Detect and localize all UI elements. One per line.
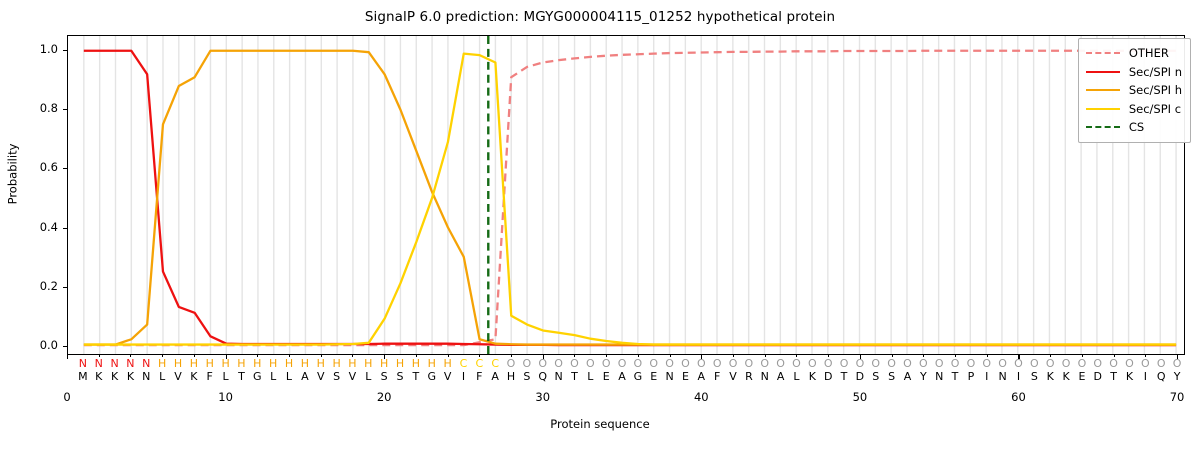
sequence-residue-label: S [381, 369, 388, 384]
sequence-residue-label: F [207, 369, 213, 384]
sequence-residue-label: V [349, 369, 357, 384]
legend-item-sec-spi-c[interactable]: Sec/SPI c [1086, 100, 1182, 119]
sequence-residue-label: S [872, 369, 879, 384]
sequence-residue-label: T [571, 369, 578, 384]
legend-label: Sec/SPI n [1129, 65, 1182, 79]
y-tick-mark [63, 50, 67, 51]
sequence-residue-label: T [238, 369, 245, 384]
sequence-residue-label: A [491, 369, 499, 384]
series-line-sec-spi-n [84, 51, 1176, 345]
sequence-residue-label: L [793, 369, 799, 384]
series-canvas [68, 36, 1184, 354]
sequence-residue-label: K [1047, 369, 1054, 384]
sequence-residue-label: F [714, 369, 720, 384]
legend-item-sec-spi-h[interactable]: Sec/SPI h [1086, 81, 1182, 100]
sequence-residue-label: A [618, 369, 626, 384]
y-tick-mark [63, 109, 67, 110]
sequence-residue-label: L [286, 369, 292, 384]
sequence-residue-label: N [999, 369, 1007, 384]
series-line-sec-spi-c [84, 54, 1176, 345]
sequence-residue-label: T [841, 369, 848, 384]
legend-item-other[interactable]: OTHER [1086, 44, 1182, 63]
sequence-residue-label: I [985, 369, 988, 384]
sequence-residue-label: D [824, 369, 832, 384]
sequence-residue-label: P [968, 369, 975, 384]
sequence-residue-label: N [665, 369, 673, 384]
sequence-residue-label: A [698, 369, 706, 384]
sequence-residue-label: F [476, 369, 482, 384]
sequence-residue-label: A [904, 369, 912, 384]
sequence-residue-label: D [1094, 369, 1102, 384]
sequence-residue-label: L [223, 369, 229, 384]
x-tick-label: 60 [1011, 390, 1026, 404]
y-tick-mark [63, 287, 67, 288]
sequence-residue-label: K [1126, 369, 1133, 384]
sequence-residue-label: V [444, 369, 452, 384]
sequence-residue-label: I [1144, 369, 1147, 384]
sequence-residue-label: K [127, 369, 134, 384]
sequence-residue-label: S [888, 369, 895, 384]
legend-label: OTHER [1129, 46, 1169, 60]
sequence-residue-label: E [603, 369, 610, 384]
legend-swatch-icon [1086, 103, 1120, 115]
sequence-residue-label: G [634, 369, 643, 384]
sequence-residue-label: L [270, 369, 276, 384]
sequence-residue-label: T [413, 369, 420, 384]
legend-item-sec-spi-n[interactable]: Sec/SPI n [1086, 63, 1182, 82]
legend-swatch-icon [1086, 84, 1120, 96]
sequence-residue-label: E [1078, 369, 1085, 384]
signalp-prediction-figure: SignalP 6.0 prediction: MGYG000004115_01… [0, 0, 1200, 450]
y-tick-label: 0.0 [27, 338, 58, 352]
sequence-residue-label: D [856, 369, 864, 384]
sequence-residue-label: I [1017, 369, 1020, 384]
sequence-residue-label: S [397, 369, 404, 384]
x-tick-label: 10 [218, 390, 233, 404]
sequence-residue-label: V [729, 369, 737, 384]
legend-label: Sec/SPI h [1129, 83, 1182, 97]
sequence-residue-label: N [761, 369, 769, 384]
sequence-residue-label: A [301, 369, 309, 384]
y-tick-label: 1.0 [27, 42, 58, 56]
sequence-residue-label: K [809, 369, 816, 384]
sequence-residue-label: K [1062, 369, 1069, 384]
y-tick-mark [63, 346, 67, 347]
x-tick-label: 30 [535, 390, 550, 404]
y-axis-label: Probability [5, 144, 19, 205]
y-tick-mark [63, 168, 67, 169]
sequence-residue-label: K [190, 369, 197, 384]
y-tick-mark [63, 228, 67, 229]
sequence-residue-label: H [507, 369, 515, 384]
sequence-residue-label: I [462, 369, 465, 384]
sequence-residue-label: Y [920, 369, 927, 384]
sequence-residue-label: G [253, 369, 262, 384]
plot-area [67, 35, 1185, 355]
series-line-other [84, 51, 1176, 345]
sequence-residue-label: Q [1157, 369, 1166, 384]
sequence-residue-label: E [650, 369, 657, 384]
chart-title: SignalP 6.0 prediction: MGYG000004115_01… [0, 9, 1200, 25]
sequence-residue-label: M [78, 369, 88, 384]
sequence-residue-label: S [1031, 369, 1038, 384]
sequence-residue-label: Q [538, 369, 547, 384]
sequence-residue-label: T [952, 369, 959, 384]
y-tick-label: 0.6 [27, 160, 58, 174]
x-tick-label: 0 [63, 390, 70, 404]
sequence-residue-label: L [587, 369, 593, 384]
x-axis-label: Protein sequence [0, 417, 1200, 431]
sequence-residue-label: N [142, 369, 150, 384]
sequence-letter-row: MKKKNLVKFLTGLLAVSVLSSTGVIFAHSQNTLEAGENEA… [67, 369, 1185, 384]
sequence-residue-label: K [111, 369, 118, 384]
legend-label: CS [1129, 120, 1144, 134]
sequence-residue-label: R [745, 369, 753, 384]
sequence-residue-label: Y [1174, 369, 1181, 384]
y-tick-label: 0.4 [27, 220, 58, 234]
x-tick-label: 70 [1170, 390, 1185, 404]
y-tick-label: 0.8 [27, 101, 58, 115]
sequence-residue-label: S [333, 369, 340, 384]
sequence-residue-label: A [777, 369, 785, 384]
x-tick-label: 50 [853, 390, 868, 404]
sequence-residue-label: K [95, 369, 102, 384]
sequence-residue-label: L [365, 369, 371, 384]
legend: OTHERSec/SPI nSec/SPI hSec/SPI cCS [1078, 38, 1191, 143]
sequence-residue-label: T [1110, 369, 1117, 384]
x-tick-label: 20 [377, 390, 392, 404]
sequence-residue-label: E [682, 369, 689, 384]
legend-item-cs[interactable]: CS [1086, 118, 1182, 137]
sequence-residue-label: V [174, 369, 182, 384]
sequence-residue-label: S [523, 369, 530, 384]
sequence-residue-label: N [935, 369, 943, 384]
legend-swatch-icon [1086, 121, 1120, 133]
y-tick-label: 0.2 [27, 279, 58, 293]
sequence-residue-label: V [317, 369, 325, 384]
legend-swatch-icon [1086, 47, 1120, 59]
sequence-residue-label: L [159, 369, 165, 384]
series-line-sec-spi-h [84, 51, 1176, 345]
legend-label: Sec/SPI c [1129, 102, 1181, 116]
legend-swatch-icon [1086, 66, 1120, 78]
sequence-residue-label: G [427, 369, 436, 384]
x-tick-label: 40 [694, 390, 709, 404]
sequence-residue-label: N [554, 369, 562, 384]
